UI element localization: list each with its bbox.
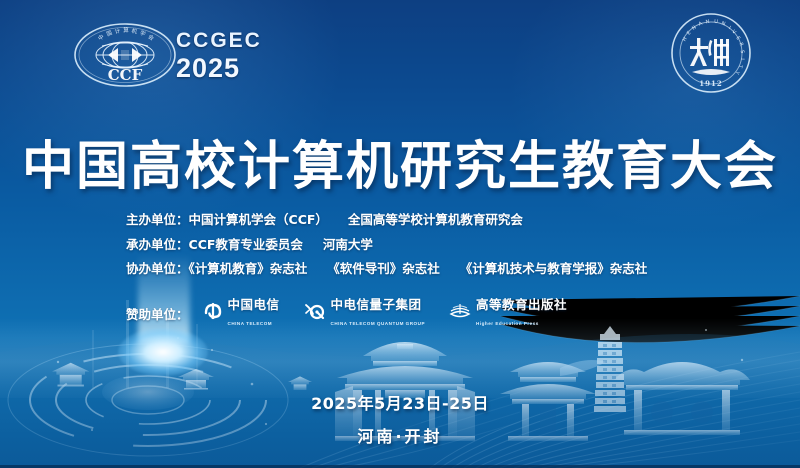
organizer-entry-coorganizer-2: 《计算机技术与教育学报》杂志社 bbox=[460, 261, 648, 276]
sponsor-name-en: CHINA TELECOM bbox=[228, 321, 273, 326]
quantum-group-icon bbox=[304, 301, 326, 326]
organizer-entry-host-0: 中国计算机学会（CCF） bbox=[189, 212, 328, 227]
organizer-label-coorganizer: 协办单位： bbox=[126, 261, 189, 276]
event-logo: CCGEC 2025 bbox=[176, 30, 280, 88]
event-logo-line1: CCGEC bbox=[176, 30, 280, 51]
sponsor-name-cn: 中国电信 bbox=[228, 297, 280, 312]
organizer-row-host: 主办单位：中国计算机学会（CCF）全国高等学校计算机教育研究会 bbox=[126, 214, 746, 227]
svg-text:H: H bbox=[682, 36, 689, 43]
svg-text:I: I bbox=[739, 58, 745, 60]
university-year: 1912 bbox=[699, 79, 722, 88]
glow-right bbox=[500, 0, 800, 240]
svg-text:中: 中 bbox=[96, 32, 105, 42]
svg-text:Y: Y bbox=[733, 69, 741, 76]
higher-education-press-icon bbox=[449, 301, 471, 326]
mist-layer bbox=[0, 318, 800, 398]
event-logo-line2: 2025 bbox=[176, 54, 280, 82]
conference-banner: 中 国 计 算 机 学 会 CCF CCGEC 2 bbox=[0, 0, 800, 468]
svg-text:U: U bbox=[714, 19, 718, 25]
svg-text:E: E bbox=[734, 35, 741, 41]
sponsor-list: 赞助单位： 中国电信 CHINA TELECOM bbox=[126, 297, 591, 329]
organizer-label-undertaker: 承办单位： bbox=[126, 237, 189, 252]
sponsor-name-cn: 中电信量子集团 bbox=[331, 297, 422, 312]
organizer-entry-host-1: 全国高等学校计算机教育研究会 bbox=[348, 212, 523, 227]
henan-university-logo: H E N A N U N I V E R S I T Y bbox=[670, 12, 752, 94]
organizer-entry-coorganizer-0: 《计算机教育》杂志社 bbox=[189, 261, 308, 276]
sponsor-name-en: Higher Education Press bbox=[476, 321, 539, 326]
svg-text:CCF: CCF bbox=[108, 66, 143, 84]
organizer-entry-undertaker-1: 河南大学 bbox=[323, 237, 373, 252]
page-title: 中国高校计算机研究生教育大会 bbox=[0, 124, 800, 199]
sponsor-label: 赞助单位： bbox=[126, 304, 189, 323]
svg-text:I: I bbox=[727, 25, 731, 31]
event-date: 2025年5月23日-25日 bbox=[0, 390, 800, 414]
svg-text:国: 国 bbox=[105, 29, 113, 38]
svg-text:S: S bbox=[739, 50, 746, 54]
organizer-label-host: 主办单位： bbox=[126, 212, 189, 227]
sponsor-china-telecom-quantum: 中电信量子集团 CHINA TELECOM QUANTUM GROUP bbox=[304, 297, 425, 329]
sponsor-name-en: CHINA TELECOM QUANTUM GROUP bbox=[331, 321, 425, 326]
organizer-entry-coorganizer-1: 《软件导刊》杂志社 bbox=[327, 261, 440, 276]
ccf-logo: 中 国 计 算 机 学 会 CCF bbox=[72, 22, 178, 88]
organizer-row-undertaker: 承办单位：CCF教育专业委员会河南大学 bbox=[126, 239, 746, 252]
svg-text:A: A bbox=[698, 20, 704, 27]
sponsor-china-telecom: 中国电信 CHINA TELECOM bbox=[203, 297, 280, 329]
sponsor-higher-education-press: 高等教育出版社 Higher Education Press bbox=[449, 297, 567, 329]
svg-text:N: N bbox=[721, 21, 727, 28]
organizer-row-coorganizer: 协办单位：《计算机教育》杂志社《软件导刊》杂志社《计算机技术与教育学报》杂志社 bbox=[126, 263, 746, 276]
event-footer: 2025年5月23日-25日 河南·开封 bbox=[0, 390, 800, 447]
svg-text:算: 算 bbox=[123, 26, 129, 34]
event-location: 河南·开封 bbox=[0, 423, 800, 447]
sponsor-name-cn: 高等教育出版社 bbox=[476, 297, 567, 312]
china-telecom-icon bbox=[203, 301, 223, 326]
organizer-entry-undertaker-0: CCF教育专业委员会 bbox=[189, 237, 303, 252]
organizer-list: 主办单位：中国计算机学会（CCF）全国高等学校计算机教育研究会 承办单位：CCF… bbox=[126, 214, 746, 288]
